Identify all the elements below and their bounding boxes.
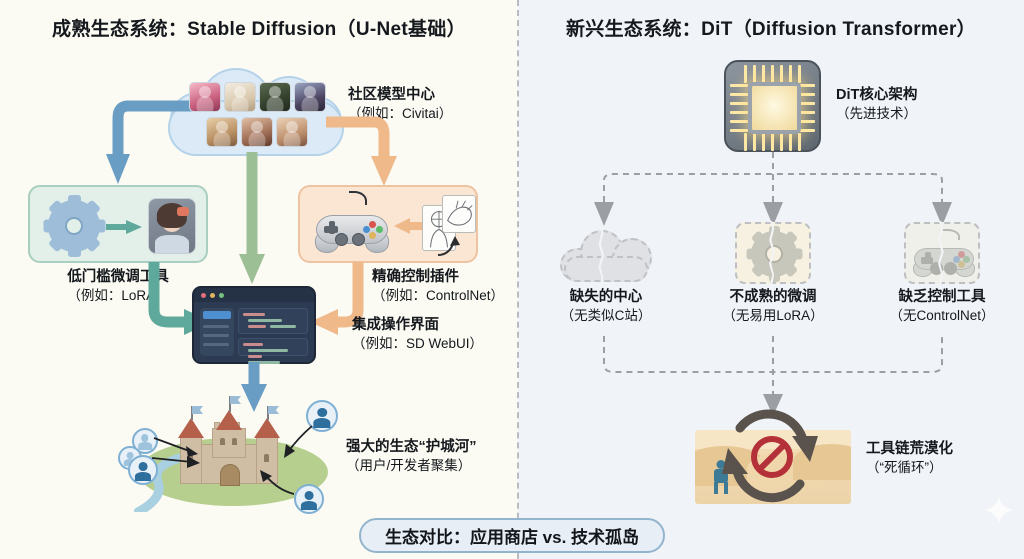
outcome-sublabel: （“死循环”） xyxy=(866,459,953,477)
model-thumbnail xyxy=(206,117,238,147)
app-window-icon xyxy=(192,286,316,364)
gap-sublabel-1: （无易用LoRA） xyxy=(713,307,833,325)
transform-arrow-icon xyxy=(106,217,144,237)
arrow-hub-to-controlnet xyxy=(322,112,412,192)
gap-caption-2: 缺乏控制工具 （无ControlNet） xyxy=(882,288,1002,324)
moat-label: 强大的生态“护城河” xyxy=(346,438,477,457)
model-thumbnail xyxy=(294,82,326,112)
banner-text: 生态对比：应用商店 vs. 技术孤岛 xyxy=(385,523,639,548)
broken-gamepad-icon xyxy=(904,222,980,284)
model-thumbnail xyxy=(189,82,221,112)
core-sublabel: （先进技术） xyxy=(836,105,917,123)
generated-portrait-icon xyxy=(148,198,196,254)
chip-icon xyxy=(724,60,821,152)
hub-label: 社区模型中心 xyxy=(348,86,452,105)
sparkle-decoration-icon xyxy=(984,495,1014,525)
gap-label-1: 不成熟的微调 xyxy=(713,288,833,307)
user-flow-arrow xyxy=(256,468,296,498)
webui-caption: 集成操作界面 （例如：SD WebUI） xyxy=(352,316,483,352)
broken-cloud-icon xyxy=(560,230,652,282)
no-entry-icon xyxy=(751,436,793,478)
core-label: DiT核心架构 xyxy=(836,86,917,105)
core-caption: DiT核心架构 （先进技术） xyxy=(836,86,917,122)
outcome-caption: 工具链荒漠化 （“死循环”） xyxy=(866,440,953,476)
outcome-label: 工具链荒漠化 xyxy=(866,440,953,459)
webui-label: 集成操作界面 xyxy=(352,316,483,335)
lora-tool-box xyxy=(28,185,208,263)
model-thumbnail xyxy=(276,117,308,147)
gap-label-0: 缺失的中心 xyxy=(546,288,666,307)
arrow-hub-to-webui xyxy=(232,152,272,288)
model-thumbnail xyxy=(224,82,256,112)
model-thumbnail xyxy=(241,117,273,147)
avatar xyxy=(294,484,324,514)
user-flow-arrows xyxy=(152,432,214,474)
controlnet-sublabel: （例如：ControlNet） xyxy=(372,287,504,305)
infographic-canvas: 成熟生态系统：Stable Diffusion（U-Net基础） 社区模型中心 … xyxy=(0,0,1024,559)
cloud-icon xyxy=(166,66,346,158)
broken-gear-icon xyxy=(735,222,811,284)
user-flow-arrow xyxy=(282,424,318,460)
gap-sublabel-0: （无类似C站） xyxy=(546,307,666,325)
castle-gate xyxy=(220,464,240,486)
gap-label-2: 缺乏控制工具 xyxy=(882,288,1002,307)
gap-caption-0: 缺失的中心 （无类似C站） xyxy=(546,288,666,324)
gap-sublabel-2: （无ControlNet） xyxy=(882,307,1002,325)
gap-caption-1: 不成熟的微调 （无易用LoRA） xyxy=(713,288,833,324)
controlnet-caption: 精确控制插件 （例如：ControlNet） xyxy=(372,268,504,304)
left-panel-title: 成熟生态系统：Stable Diffusion（U-Net基础） xyxy=(0,14,518,41)
gamepad-icon xyxy=(316,205,388,251)
model-thumbnail-grid xyxy=(184,82,330,148)
moat-sublabel: （用户/开发者聚集） xyxy=(346,457,477,475)
curved-arrow-icon xyxy=(436,235,462,259)
comparison-banner: 生态对比：应用商店 vs. 技术孤岛 xyxy=(359,518,665,553)
right-panel-title: 新兴生态系统：DiT（Diffusion Transformer） xyxy=(518,14,1024,41)
webui-sublabel: （例如：SD WebUI） xyxy=(352,335,483,353)
panel-mature-ecosystem: 成熟生态系统：Stable Diffusion（U-Net基础） 社区模型中心 … xyxy=(0,0,518,559)
gear-icon xyxy=(48,200,100,252)
hand-sketch-icon xyxy=(442,195,476,233)
moat-caption: 强大的生态“护城河” （用户/开发者聚集） xyxy=(346,438,477,474)
controlnet-label: 精确控制插件 xyxy=(372,268,504,287)
model-thumbnail xyxy=(259,82,291,112)
controlnet-plugin-box xyxy=(298,185,478,263)
